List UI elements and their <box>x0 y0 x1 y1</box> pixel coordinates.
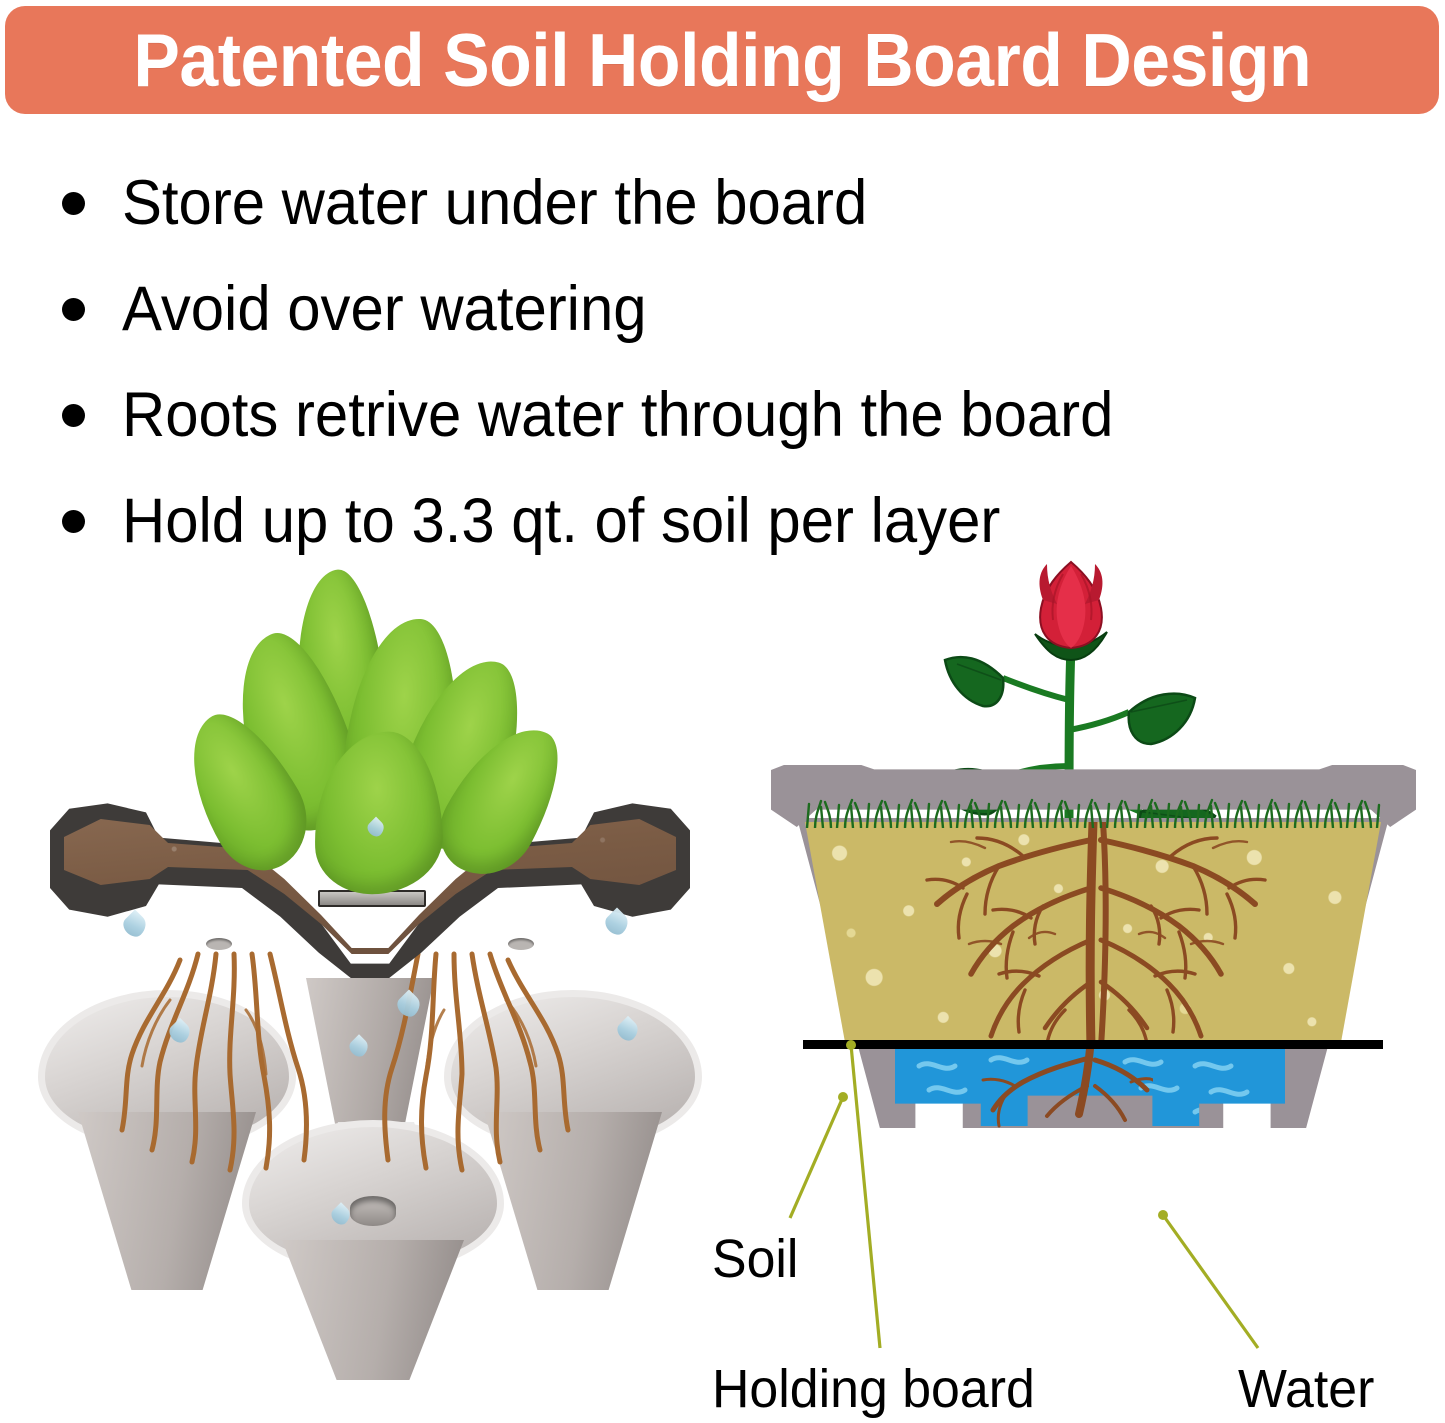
bullet-dot-icon <box>62 404 85 427</box>
feature-item: Hold up to 3.3 qt. of soil per layer <box>0 468 1445 574</box>
grass-strip <box>803 798 1383 828</box>
feature-item: Store water under the board <box>0 150 1445 256</box>
feature-text: Hold up to 3.3 qt. of soil per layer <box>122 490 1000 553</box>
green-foliage-plant <box>188 570 558 890</box>
planter-cone-front <box>282 1240 464 1380</box>
feature-list: Store water under the board Avoid over w… <box>0 150 1445 574</box>
plant-roots <box>20 950 720 1210</box>
feature-text: Avoid over watering <box>122 278 647 341</box>
bullet-dot-icon <box>62 510 85 533</box>
bullet-dot-icon <box>62 192 85 215</box>
stacking-planter-product-photo <box>20 560 720 1360</box>
header-banner: Patented Soil Holding Board Design <box>5 6 1439 114</box>
callout-water-label: Water <box>1238 1362 1374 1416</box>
callout-soil-label: Soil <box>712 1232 798 1286</box>
board-hole-left <box>206 938 232 950</box>
board-hole-right <box>508 938 534 950</box>
feature-item: Roots retrive water through the board <box>0 362 1445 468</box>
feature-text: Roots retrive water through the board <box>122 384 1113 447</box>
feature-text: Store water under the board <box>122 172 867 235</box>
feature-item: Avoid over watering <box>0 256 1445 362</box>
bullet-dot-icon <box>62 298 85 321</box>
callout-holding-board-label: Holding board <box>712 1362 1035 1416</box>
root-in-water <box>953 1038 1153 1130</box>
pot-cross-section-diagram <box>745 560 1435 1260</box>
page-title: Patented Soil Holding Board Design <box>133 23 1311 98</box>
figures-area <box>0 560 1445 1423</box>
black-holding-board-line <box>803 1040 1383 1049</box>
